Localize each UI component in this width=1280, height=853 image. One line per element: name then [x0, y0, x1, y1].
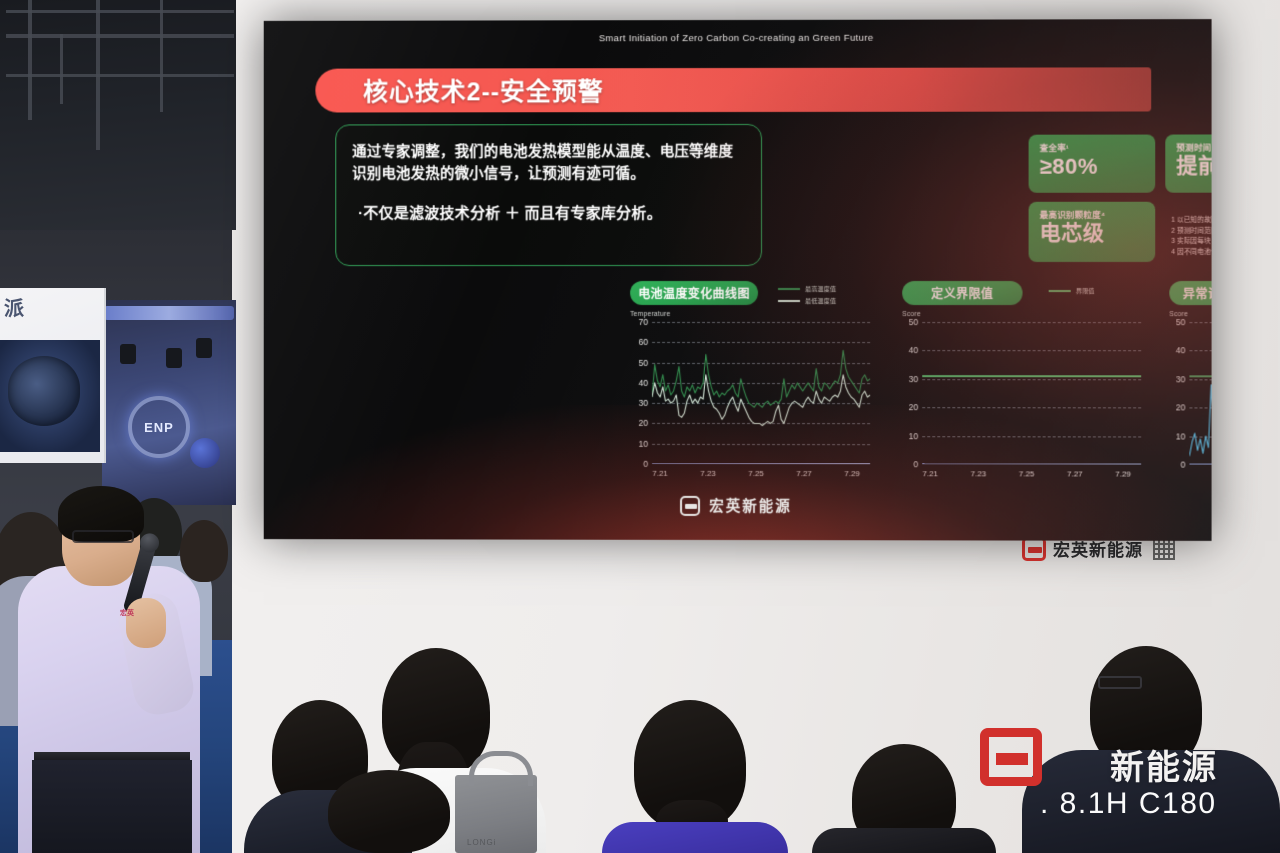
spotlight-fixture [166, 348, 182, 368]
y-axis-tick-label: 0 [643, 459, 648, 469]
y-axis-tick-label: 50 [909, 317, 918, 327]
chart1-legend: 最高温度值 最低温度值 [778, 284, 836, 308]
chart-title-threshold: 定义界限值 [902, 281, 1022, 305]
spotlight-fixture [196, 338, 212, 358]
y-axis-tick-label: 10 [639, 439, 648, 449]
chart-anomaly-plot: 01020304050 [1189, 322, 1211, 465]
chart2-legend: 界限值 [1049, 286, 1095, 298]
series-line [1189, 322, 1211, 456]
brand-mark-icon [680, 495, 700, 515]
metric-card-granularity: 最高识别颗粒度⁴ 电芯级 [1029, 202, 1156, 262]
y-axis-tick-label: 30 [909, 374, 918, 384]
projected-slide: Smart Initiation of Zero Carbon Co-creat… [264, 19, 1212, 541]
footnote-item: 1 以已知的故障类型为基础，实际因场景和电池材料不同有区别 。 [1171, 216, 1211, 227]
audience-shoulders [602, 822, 788, 853]
bag-label: LONGi [467, 838, 496, 847]
presenter-trousers [32, 760, 192, 853]
slide-body-box: 通过专家调整，我们的电池发热模型能从温度、电压等维度识别电池发热的微小信号，让预… [335, 124, 762, 266]
slide-footer-brand: 宏英新能源 [264, 494, 1212, 517]
footnote-list: 1 以已知的故障类型为基础，实际因场景和电池材料不同有区别 。 2 预测时间范围… [1171, 216, 1211, 259]
y-axis-tick-label: 50 [639, 358, 648, 368]
y-axis-tick-label: 20 [639, 418, 648, 428]
metric-value: ≥80% [1040, 155, 1146, 180]
chart1-axis-caption: Temperature [630, 311, 670, 318]
x-axis-tick-label: 7.29 [844, 469, 860, 478]
legend-swatch [778, 288, 800, 290]
metric-value: 电芯级 [1040, 222, 1146, 246]
booth-logo-ring: ENP [128, 396, 190, 458]
booth-product-image [0, 340, 100, 452]
metric-label: 预测时间² [1176, 141, 1211, 153]
series-line [652, 350, 870, 407]
y-axis-tick-label: 10 [1176, 431, 1186, 441]
presenter-glasses [72, 530, 134, 543]
chart-series-canvas [1189, 322, 1211, 465]
shirt-logo: 宏英 [120, 608, 134, 618]
slide-footer-brand-text: 宏英新能源 [709, 495, 792, 516]
audience-head [328, 770, 450, 853]
chart-threshold-plot: 010203040507.217.237.257.277.29 [922, 322, 1141, 464]
booth-accent-dot [190, 438, 220, 468]
body-paragraph-1: 通过专家调整，我们的电池发热模型能从温度、电压等维度识别电池发热的微小信号，让预… [352, 141, 747, 186]
presenter-hand [126, 598, 166, 648]
booth-light-bar [104, 306, 234, 320]
x-axis-tick-label: 7.23 [971, 469, 987, 478]
y-axis-tick-label: 40 [639, 378, 648, 388]
y-axis-tick-label: 60 [639, 337, 648, 347]
x-axis-tick-label: 7.25 [748, 469, 764, 478]
metric-label: 最高识别颗粒度⁴ [1040, 209, 1146, 221]
body-paragraph-2: ·不仅是滤波技术分析 ＋ 而且有专家库分析。 [352, 202, 747, 223]
x-axis-tick-label: 7.29 [1115, 470, 1131, 479]
legend-label: 界限值 [1076, 286, 1095, 295]
legend-label: 最高温度值 [805, 284, 836, 293]
tote-bag: LONGi [455, 775, 537, 853]
chart-title-anomaly: 异常识别预测图 [1169, 281, 1211, 305]
booth-side-logo: 派 [4, 292, 25, 321]
x-axis-tick-label: 7.21 [922, 469, 938, 478]
metric-value: 提前7天 [1176, 154, 1211, 178]
hall-booth-code: . 8.1H C180 [1040, 787, 1217, 821]
metric-card-lead-time: 预测时间² 提前7天 [1165, 134, 1211, 192]
slide-title: 核心技术2--安全预警 [363, 72, 604, 108]
legend-swatch [1049, 290, 1071, 292]
chart-series-canvas [922, 322, 1141, 464]
y-axis-tick-label: 30 [639, 398, 648, 408]
y-axis-tick-label: 0 [1181, 460, 1186, 470]
x-axis-tick-label: 7.21 [652, 469, 668, 478]
ceiling-truss [0, 0, 236, 230]
slide-subtitle: Smart Initiation of Zero Carbon Co-creat… [264, 32, 1212, 45]
x-axis-tick-label: 7.27 [1067, 469, 1083, 478]
legend-label: 最低温度值 [805, 296, 836, 305]
chart-temperature-plot: 0102030405060707.217.237.257.277.29 [652, 322, 870, 464]
x-axis-tick-label: 7.23 [700, 469, 716, 478]
slide-title-banner: 核心技术2--安全预警 [315, 67, 1151, 112]
y-axis-tick-label: 0 [913, 459, 918, 469]
legend-swatch [778, 300, 800, 302]
x-axis-tick-label: 7.27 [796, 469, 812, 478]
y-axis-tick-label: 40 [1176, 346, 1186, 356]
audience-glasses [1098, 676, 1142, 689]
audience-shoulders [812, 828, 996, 853]
y-axis-tick-label: 50 [1176, 317, 1186, 327]
x-axis-tick-label: 7.25 [1019, 469, 1035, 478]
y-axis-tick-label: 70 [639, 317, 648, 327]
chart-title-temperature: 电池温度变化曲线图 [630, 281, 758, 305]
spotlight-fixture [120, 344, 136, 364]
y-axis-tick-label: 40 [909, 345, 918, 355]
footnote-item: 2 预测时间范围可依据需求调整，以实际结果为准。 [1171, 226, 1211, 237]
chart-series-canvas [652, 322, 870, 464]
y-axis-tick-label: 20 [909, 402, 918, 412]
footnote-item: 4 因不同电池包制造规格和数据质量而有不同。 [1171, 248, 1211, 259]
wall-brand-text-large: 新能源 [1110, 740, 1218, 789]
footnote-item: 3 实际因每块电池的使用场景不同而有差异。 [1171, 237, 1211, 248]
metric-label: 查全率¹ [1040, 142, 1146, 154]
metric-card-recall: 查全率¹ ≥80% [1029, 135, 1156, 193]
background-attendee [180, 520, 228, 582]
y-axis-tick-label: 20 [1176, 403, 1186, 413]
wall-brand-mark-large [980, 728, 1042, 786]
y-axis-tick-label: 10 [909, 431, 918, 441]
y-axis-tick-label: 30 [1176, 374, 1186, 384]
